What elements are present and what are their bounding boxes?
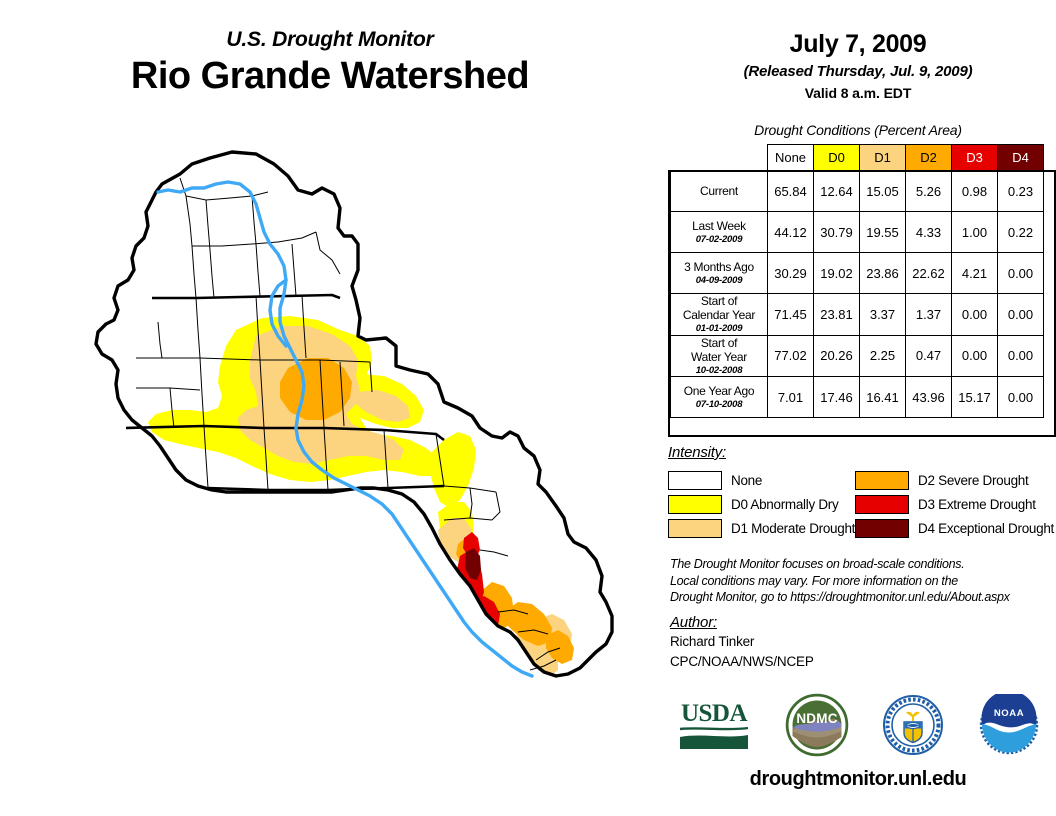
- row-label-date: 07-10-2008: [671, 399, 767, 410]
- legend-label: D2 Severe Drought: [918, 473, 1028, 488]
- table-row: Last Week07-02-200944.1230.7919.554.331.…: [671, 212, 1044, 253]
- legend-item: D2 Severe Drought: [855, 471, 1056, 490]
- intensity-legend: Intensity: NoneD2 Severe DroughtD0 Abnor…: [668, 444, 1056, 540]
- author-name: Richard Tinker: [670, 633, 1056, 651]
- row-label: Start ofWater Year10-02-2008: [671, 335, 768, 377]
- svg-text:NDMC: NDMC: [796, 711, 837, 726]
- legend-swatch: [668, 519, 722, 538]
- cell-none: 44.12: [768, 212, 814, 253]
- usda-logo: USDA: [676, 697, 752, 753]
- disclaimer-notes: The Drought Monitor focuses on broad-sca…: [670, 556, 1056, 606]
- cell-d0: 19.02: [814, 253, 860, 294]
- cell-none: 65.84: [768, 171, 814, 212]
- cell-d0: 30.79: [814, 212, 860, 253]
- legend-label: None: [731, 473, 762, 488]
- table-row: Start ofCalendar Year01-01-200971.4523.8…: [671, 294, 1044, 336]
- row-label-date: 07-02-2009: [671, 234, 767, 245]
- cell-d4: 0.00: [998, 377, 1044, 418]
- cell-d2: 4.33: [906, 212, 952, 253]
- drought-monitor-supertitle: U.S. Drought Monitor: [0, 28, 660, 51]
- cell-d3: 0.00: [952, 335, 998, 377]
- partner-logos: USDA NDMC NOAA: [660, 690, 1056, 760]
- row-label: 3 Months Ago04-09-2009: [671, 253, 768, 294]
- cell-none: 77.02: [768, 335, 814, 377]
- table-corner-cell: [671, 145, 768, 171]
- cell-d1: 15.05: [860, 171, 906, 212]
- drought-conditions-table: NoneD0D1D2D3D4 Current65.8412.6415.055.2…: [670, 144, 1044, 418]
- table-row: 3 Months Ago04-09-200930.2919.0223.8622.…: [671, 253, 1044, 294]
- site-url: droughtmonitor.unl.edu: [660, 768, 1056, 791]
- released-on-line: (Released Thursday, Jul. 9, 2009): [660, 63, 1056, 80]
- noaa-logo: NOAA: [978, 694, 1040, 756]
- column-header-d3: D3: [952, 145, 998, 171]
- author-affiliation: CPC/NOAA/NWS/NCEP: [670, 653, 1056, 671]
- cell-d2: 1.37: [906, 294, 952, 336]
- cell-d0: 20.26: [814, 335, 860, 377]
- row-label: Current: [671, 171, 768, 212]
- legend-item: D3 Extreme Drought: [855, 495, 1056, 514]
- cell-none: 71.45: [768, 294, 814, 336]
- row-label: Last Week07-02-2009: [671, 212, 768, 253]
- ndmc-logo: NDMC: [785, 693, 849, 757]
- legend-item: D0 Abnormally Dry: [668, 495, 855, 514]
- legend-label: D4 Exceptional Drought: [918, 521, 1054, 536]
- cell-d4: 0.23: [998, 171, 1044, 212]
- cell-d3: 0.00: [952, 294, 998, 336]
- legend-swatch: [668, 471, 722, 490]
- cell-d2: 22.62: [906, 253, 952, 294]
- cell-d3: 15.17: [952, 377, 998, 418]
- cell-d2: 5.26: [906, 171, 952, 212]
- svg-text:USDA: USDA: [681, 700, 748, 727]
- column-header-d4: D4: [998, 145, 1044, 171]
- cell-d4: 0.00: [998, 294, 1044, 336]
- table-body: Current65.8412.6415.055.260.980.23Last W…: [671, 171, 1044, 418]
- legend-swatch: [855, 471, 909, 490]
- rio-grande-watershed-map: [40, 140, 660, 810]
- cell-d0: 17.46: [814, 377, 860, 418]
- cell-d2: 0.47: [906, 335, 952, 377]
- column-header-none: None: [768, 145, 814, 171]
- column-header-d1: D1: [860, 145, 906, 171]
- row-label: One Year Ago07-10-2008: [671, 377, 768, 418]
- cell-d0: 23.81: [814, 294, 860, 336]
- notes-line-3: Drought Monitor, go to https://droughtmo…: [670, 589, 1056, 606]
- row-label-date: 04-09-2009: [671, 275, 767, 286]
- map-title-block: U.S. Drought Monitor Rio Grande Watershe…: [0, 28, 660, 99]
- legend-swatch: [668, 495, 722, 514]
- cell-d3: 1.00: [952, 212, 998, 253]
- map-canvas: [40, 140, 660, 810]
- page-title: Rio Grande Watershed: [0, 55, 660, 99]
- cell-d3: 0.98: [952, 171, 998, 212]
- cell-d3: 4.21: [952, 253, 998, 294]
- row-label-date: 01-01-2009: [671, 323, 767, 334]
- cell-d1: 23.86: [860, 253, 906, 294]
- author-block: Author: Richard Tinker CPC/NOAA/NWS/NCEP: [670, 614, 1056, 671]
- legend-label: D0 Abnormally Dry: [731, 497, 838, 512]
- date-block: July 7, 2009 (Released Thursday, Jul. 9,…: [660, 30, 1056, 101]
- valid-time-line: Valid 8 a.m. EDT: [660, 85, 1056, 101]
- notes-line-2: Local conditions may vary. For more info…: [670, 573, 1056, 590]
- cell-d4: 0.00: [998, 253, 1044, 294]
- table-row: Start ofWater Year10-02-200877.0220.262.…: [671, 335, 1044, 377]
- row-label-date: 10-02-2008: [671, 365, 767, 376]
- table-row: One Year Ago07-10-20087.0117.4616.4143.9…: [671, 377, 1044, 418]
- legend-item: D4 Exceptional Drought: [855, 519, 1056, 538]
- release-date: July 7, 2009: [660, 30, 1056, 59]
- legend-label: D3 Extreme Drought: [918, 497, 1036, 512]
- cell-d4: 0.22: [998, 212, 1044, 253]
- legend-swatch: [855, 495, 909, 514]
- cell-none: 7.01: [768, 377, 814, 418]
- column-header-d2: D2: [906, 145, 952, 171]
- table-caption: Drought Conditions (Percent Area): [660, 122, 1056, 138]
- legend-label: D1 Moderate Drought: [731, 521, 855, 536]
- notes-line-1: The Drought Monitor focuses on broad-sca…: [670, 556, 1056, 573]
- legend-grid: NoneD2 Severe DroughtD0 Abnormally DryD3…: [668, 468, 1056, 540]
- cell-d4: 0.00: [998, 335, 1044, 377]
- cell-d0: 12.64: [814, 171, 860, 212]
- svg-text:NOAA: NOAA: [994, 708, 1024, 719]
- cell-d1: 19.55: [860, 212, 906, 253]
- legend-title: Intensity:: [668, 444, 1056, 461]
- usdc-seal-logo: [881, 693, 945, 757]
- cell-none: 30.29: [768, 253, 814, 294]
- table-row: Current65.8412.6415.055.260.980.23: [671, 171, 1044, 212]
- cell-d1: 16.41: [860, 377, 906, 418]
- legend-item: D1 Moderate Drought: [668, 519, 855, 538]
- table-header-row: NoneD0D1D2D3D4: [671, 145, 1044, 171]
- legend-item: None: [668, 471, 855, 490]
- cell-d1: 2.25: [860, 335, 906, 377]
- column-header-d0: D0: [814, 145, 860, 171]
- author-title: Author:: [670, 614, 1056, 631]
- cell-d1: 3.37: [860, 294, 906, 336]
- cell-d2: 43.96: [906, 377, 952, 418]
- legend-swatch: [855, 519, 909, 538]
- row-label: Start ofCalendar Year01-01-2009: [671, 294, 768, 336]
